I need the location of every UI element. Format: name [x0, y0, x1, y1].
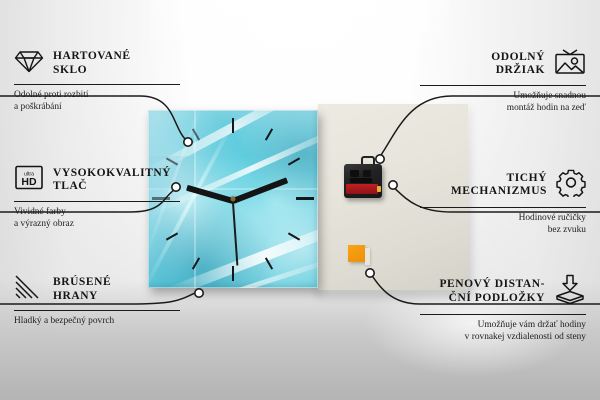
feature-divider: [420, 85, 586, 86]
feature-description: Umožňuje vám držať hodiny v rovnakej vzd…: [420, 320, 586, 343]
foam-spacer-pad: [348, 245, 365, 262]
feature-title: PENOVÝ DISTAN- ČNÍ PODLOŽKY: [439, 278, 545, 305]
gear-icon: [556, 168, 586, 202]
feature-header: BRÚSENÉ HRANY: [14, 274, 180, 305]
picture-hanger-icon: [554, 48, 586, 80]
feature-description: Odolné proti rozbití a poškrábání: [14, 90, 180, 113]
feature-title: VYSOKOKVALITNÝ TLAČ: [53, 167, 171, 194]
feature-divider: [14, 201, 180, 202]
feature-title: HARTOVANÉ SKLO: [53, 50, 131, 77]
feature-description: Hladký a bezpečný povrch: [14, 316, 180, 328]
feature-title: BRÚSENÉ HRANY: [53, 276, 111, 303]
feature-title: ODOLNÝ DRŽIAK: [491, 51, 545, 78]
feature-header: TICHÝ MECHANIZMUS: [420, 168, 586, 202]
foam-spacer-pad-side: [365, 248, 370, 265]
feature-description: Vividné farby a výrazný obraz: [14, 207, 180, 230]
feature-divider: [14, 84, 180, 85]
stack-arrow-icon: [554, 274, 586, 309]
feature-ground-edges: BRÚSENÉ HRANY Hladký a bezpečný povrch: [14, 274, 180, 328]
feature-durable-hanger: ODOLNÝ DRŽIAK Umožňuje snadnou montáž ho…: [420, 48, 586, 114]
hatch-lines-icon: [14, 274, 44, 305]
feature-high-quality-print: ultra HD VYSOKOKVALITNÝ TLAČ Vividné far…: [14, 164, 180, 230]
feature-header: ODOLNÝ DRŽIAK: [420, 48, 586, 80]
background-top-highlight: [150, 0, 450, 70]
feature-description: Umožňuje snadnou montáž hodin na zeď: [420, 91, 586, 114]
mechanism-detail-b: [363, 170, 371, 177]
mechanism-detail-c: [350, 178, 372, 183]
feature-divider: [14, 310, 180, 311]
mechanism-detail-a: [350, 170, 359, 177]
battery-terminal: [377, 186, 381, 192]
mechanism-battery: [346, 184, 378, 194]
feature-tempered-glass: HARTOVANÉ SKLO Odolné proti rozbití a po…: [14, 48, 180, 113]
diamond-icon: [14, 48, 44, 79]
feature-description: Hodinové ručičky bez zvuku: [420, 213, 586, 236]
feature-silent-mechanism: TICHÝ MECHANIZMUS Hodinové ručičky bez z…: [420, 168, 586, 236]
feature-foam-spacers: PENOVÝ DISTAN- ČNÍ PODLOŽKY Umožňuje vám…: [420, 274, 586, 343]
ultra-hd-icon: ultra HD: [14, 164, 44, 196]
infographic-canvas: HARTOVANÉ SKLO Odolné proti rozbití a po…: [0, 0, 600, 400]
feature-divider: [420, 207, 586, 208]
feature-divider: [420, 314, 586, 315]
feature-title: TICHÝ MECHANIZMUS: [451, 172, 547, 199]
feature-header: ultra HD VYSOKOKVALITNÝ TLAČ: [14, 164, 180, 196]
feature-header: PENOVÝ DISTAN- ČNÍ PODLOŽKY: [420, 274, 586, 309]
svg-text:HD: HD: [21, 176, 37, 188]
feature-header: HARTOVANÉ SKLO: [14, 48, 180, 79]
